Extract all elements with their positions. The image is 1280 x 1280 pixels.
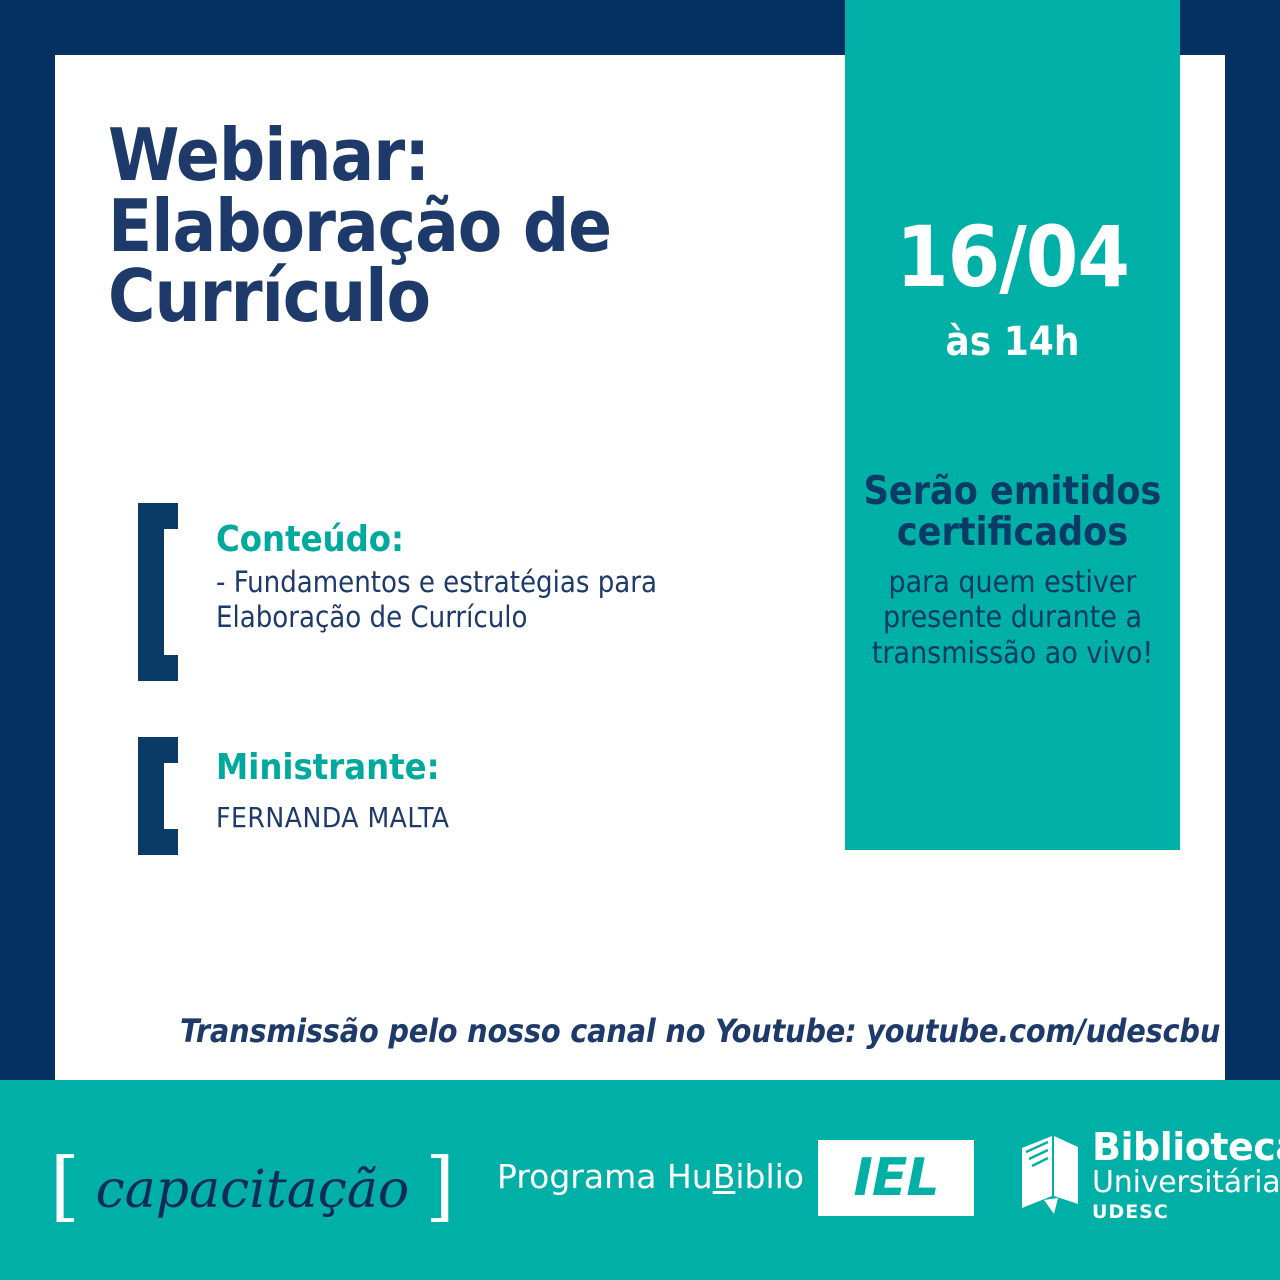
- certificate-title: Serão emitidos certificados: [845, 472, 1180, 554]
- programa-prefix: Programa Hu: [497, 1157, 713, 1196]
- certificate-subtitle: para quem estiver presente durante a tra…: [845, 565, 1180, 671]
- capacitacao-word: capacitação: [80, 1164, 426, 1216]
- programa-underlined-letter: B: [713, 1157, 736, 1196]
- biblioteca-line1: Biblioteca: [1092, 1128, 1280, 1166]
- event-date: 16/04: [845, 215, 1180, 299]
- bracket-icon: [138, 737, 178, 855]
- capacitacao-logo: [ capacitação ]: [50, 1150, 455, 1230]
- section-heading-conteudo: Conteúdo:: [216, 521, 756, 559]
- page-title: Webinar: Elaboração de Currículo: [108, 120, 808, 332]
- iel-logo-text: IEL: [818, 1140, 974, 1216]
- programa-hubiblio-label: Programa HuBiblio: [497, 1157, 804, 1196]
- teal-side-panel: [845, 0, 1180, 850]
- transmission-link-text[interactable]: Transmissão pelo nosso canal no Youtube:…: [180, 1012, 1220, 1050]
- biblioteca-line2: Universitária: [1092, 1168, 1280, 1198]
- biblioteca-line3: UDESC: [1092, 1203, 1280, 1222]
- section-conteudo: Conteúdo: - Fundamentos e estratégias pa…: [138, 503, 758, 681]
- section-body-ministrante: FERNANDA MALTA: [216, 801, 756, 835]
- section-ministrante: Ministrante: FERNANDA MALTA: [138, 737, 758, 855]
- bracket-icon: [138, 503, 178, 681]
- bracket-open-icon: [: [50, 1156, 80, 1217]
- event-time: às 14h: [845, 322, 1180, 362]
- biblioteca-udesc-logo: Biblioteca Universitária UDESC: [1018, 1128, 1280, 1222]
- iel-logo: IEL: [818, 1140, 974, 1216]
- open-book-icon: [1018, 1134, 1080, 1216]
- section-heading-ministrante: Ministrante:: [216, 749, 756, 787]
- programa-suffix: iblio: [735, 1157, 804, 1196]
- bracket-close-icon: ]: [425, 1156, 455, 1217]
- poster-canvas: Webinar: Elaboração de Currículo Conteúd…: [0, 0, 1280, 1280]
- section-body-conteudo: - Fundamentos e estratégias para Elabora…: [216, 565, 756, 636]
